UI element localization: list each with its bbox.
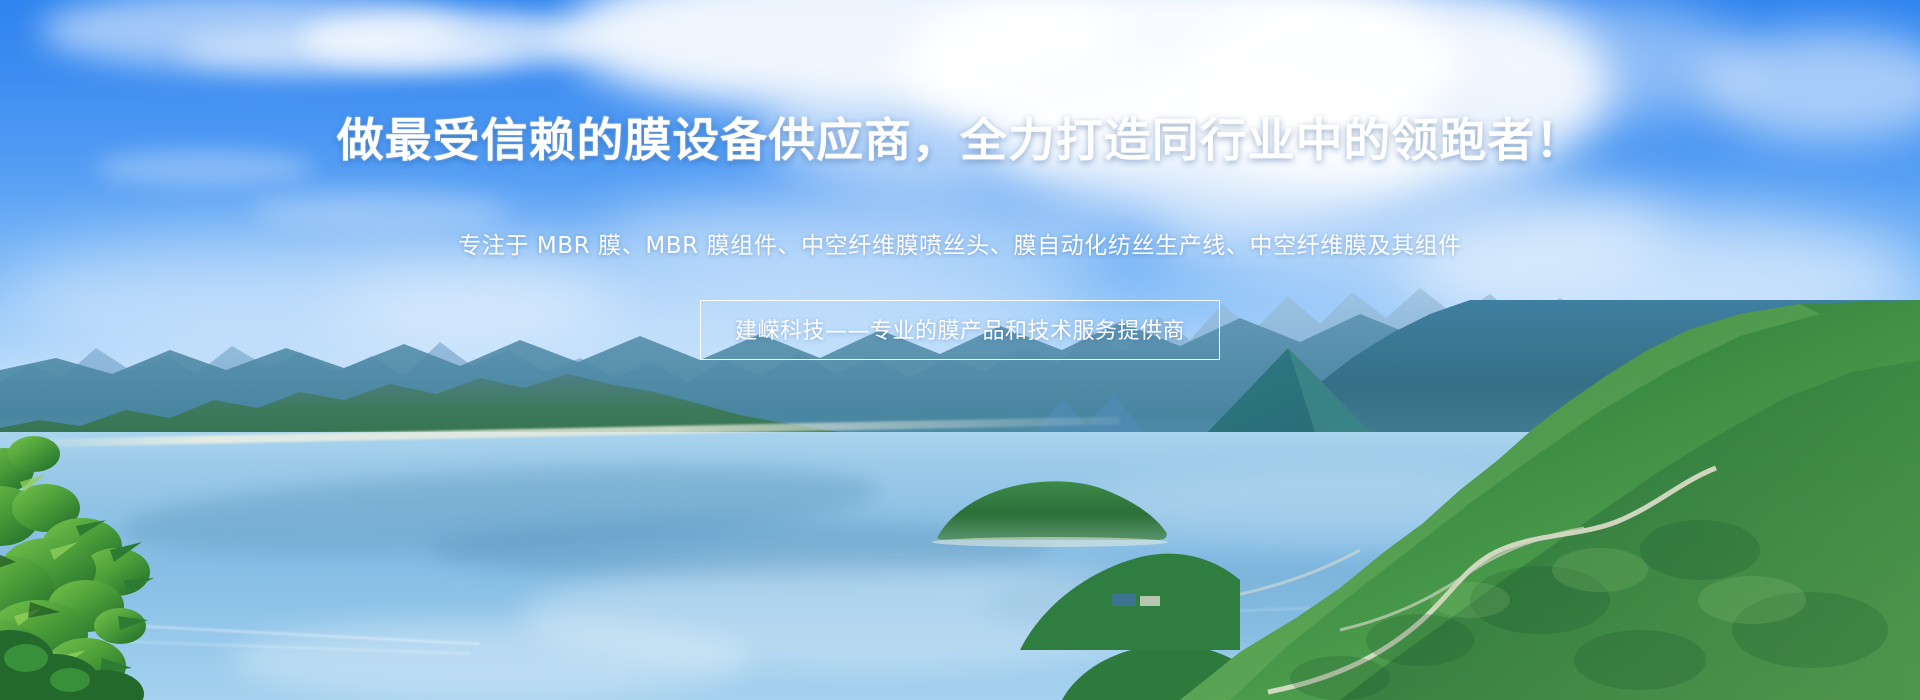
banner-headline: 做最受信赖的膜设备供应商，全力打造同行业中的领跑者！ <box>0 104 1920 170</box>
peninsula <box>1020 530 1240 650</box>
hero-banner: 做最受信赖的膜设备供应商，全力打造同行业中的领跑者！ 专注于 MBR 膜、MBR… <box>0 0 1920 700</box>
banner-tagline: 建嵘科技——专业的膜产品和技术服务提供商 <box>735 313 1185 345</box>
foreground-foliage-bottom <box>0 600 180 700</box>
banner-tagline-box: 建嵘科技——专业的膜产品和技术服务提供商 <box>700 300 1220 360</box>
cloud-wisp <box>250 190 510 230</box>
water-highlight <box>230 620 750 700</box>
cloud-main <box>1430 0 1750 120</box>
banner-subheadline: 专注于 MBR 膜、MBR 膜组件、中空纤维膜喷丝头、膜自动化纺丝生产线、中空纤… <box>0 226 1920 260</box>
cloud-wisp <box>300 10 600 70</box>
